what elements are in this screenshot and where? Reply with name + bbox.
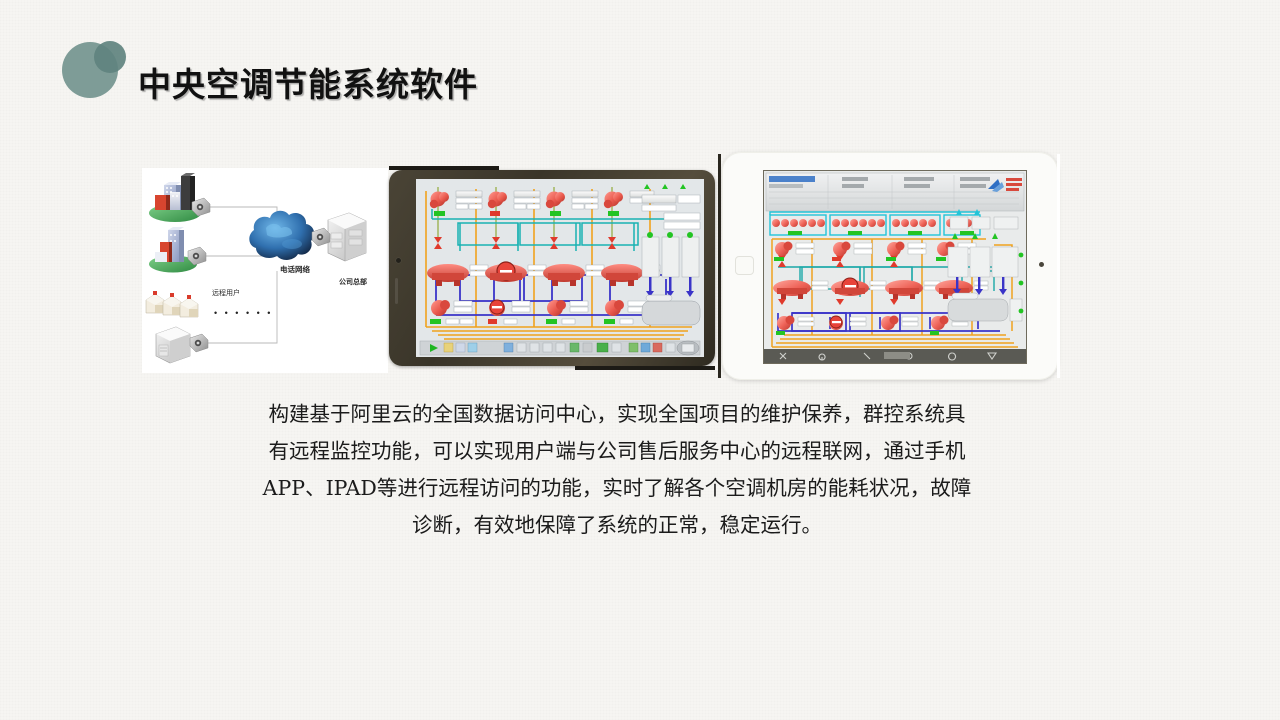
- phone-screen[interactable]: [416, 179, 704, 357]
- paragraph-line-1: 构建基于阿里云的全国数据访问中心，实现全国项目的维护保养，群控系统具: [196, 396, 1038, 433]
- android-phone-device: [389, 170, 715, 366]
- paragraph-line-3: APP、IPAD等进行远程访问的功能，实时了解各个空调机房的能耗状况，故障: [196, 470, 1038, 507]
- scada-header: [766, 173, 1024, 211]
- label-company-hq: 公司总部: [339, 277, 367, 287]
- ipad-home-button-icon[interactable]: [735, 256, 754, 275]
- scada-toolbar-ipad: [764, 349, 1026, 363]
- phone-speaker-icon: [395, 278, 398, 304]
- network-diagram-svg: [142, 168, 388, 373]
- scada-toolbar-phone: [420, 341, 700, 355]
- media-strip: 电话网络 远程用户 公司总部 • • • • • •: [0, 0, 1280, 720]
- paragraph-line-4: 诊断，有效地保障了系统的正常，稳定运行。: [196, 507, 1038, 544]
- ipad-right-edge-highlight: [1057, 154, 1060, 378]
- label-ellipsis: • • • • • •: [214, 308, 273, 318]
- ipad-screen[interactable]: [763, 170, 1027, 364]
- hvac-scada-diagram-phone: [416, 179, 704, 357]
- ipad-camera-icon: [1039, 262, 1044, 267]
- body-paragraph: 构建基于阿里云的全国数据访问中心，实现全国项目的维护保养，群控系统具 有远程监控…: [196, 396, 1038, 544]
- hq-server-icon: [328, 213, 366, 261]
- network-diagram-image: 电话网络 远程用户 公司总部 • • • • • •: [142, 168, 388, 373]
- workstation-icon: [156, 327, 190, 363]
- phone-bottom-edge-shadow: [575, 366, 715, 370]
- label-remote-users: 远程用户: [212, 288, 240, 298]
- ipad-device: [722, 152, 1058, 380]
- hvac-scada-diagram-ipad: [764, 171, 1026, 363]
- ipad-left-edge-shadow: [718, 154, 721, 378]
- phone-camera-icon: [396, 258, 401, 263]
- paragraph-line-2: 有远程监控功能，可以实现用户端与公司售后服务中心的远程联网，通过手机: [196, 433, 1038, 470]
- label-telephone-network: 电话网络: [280, 264, 310, 275]
